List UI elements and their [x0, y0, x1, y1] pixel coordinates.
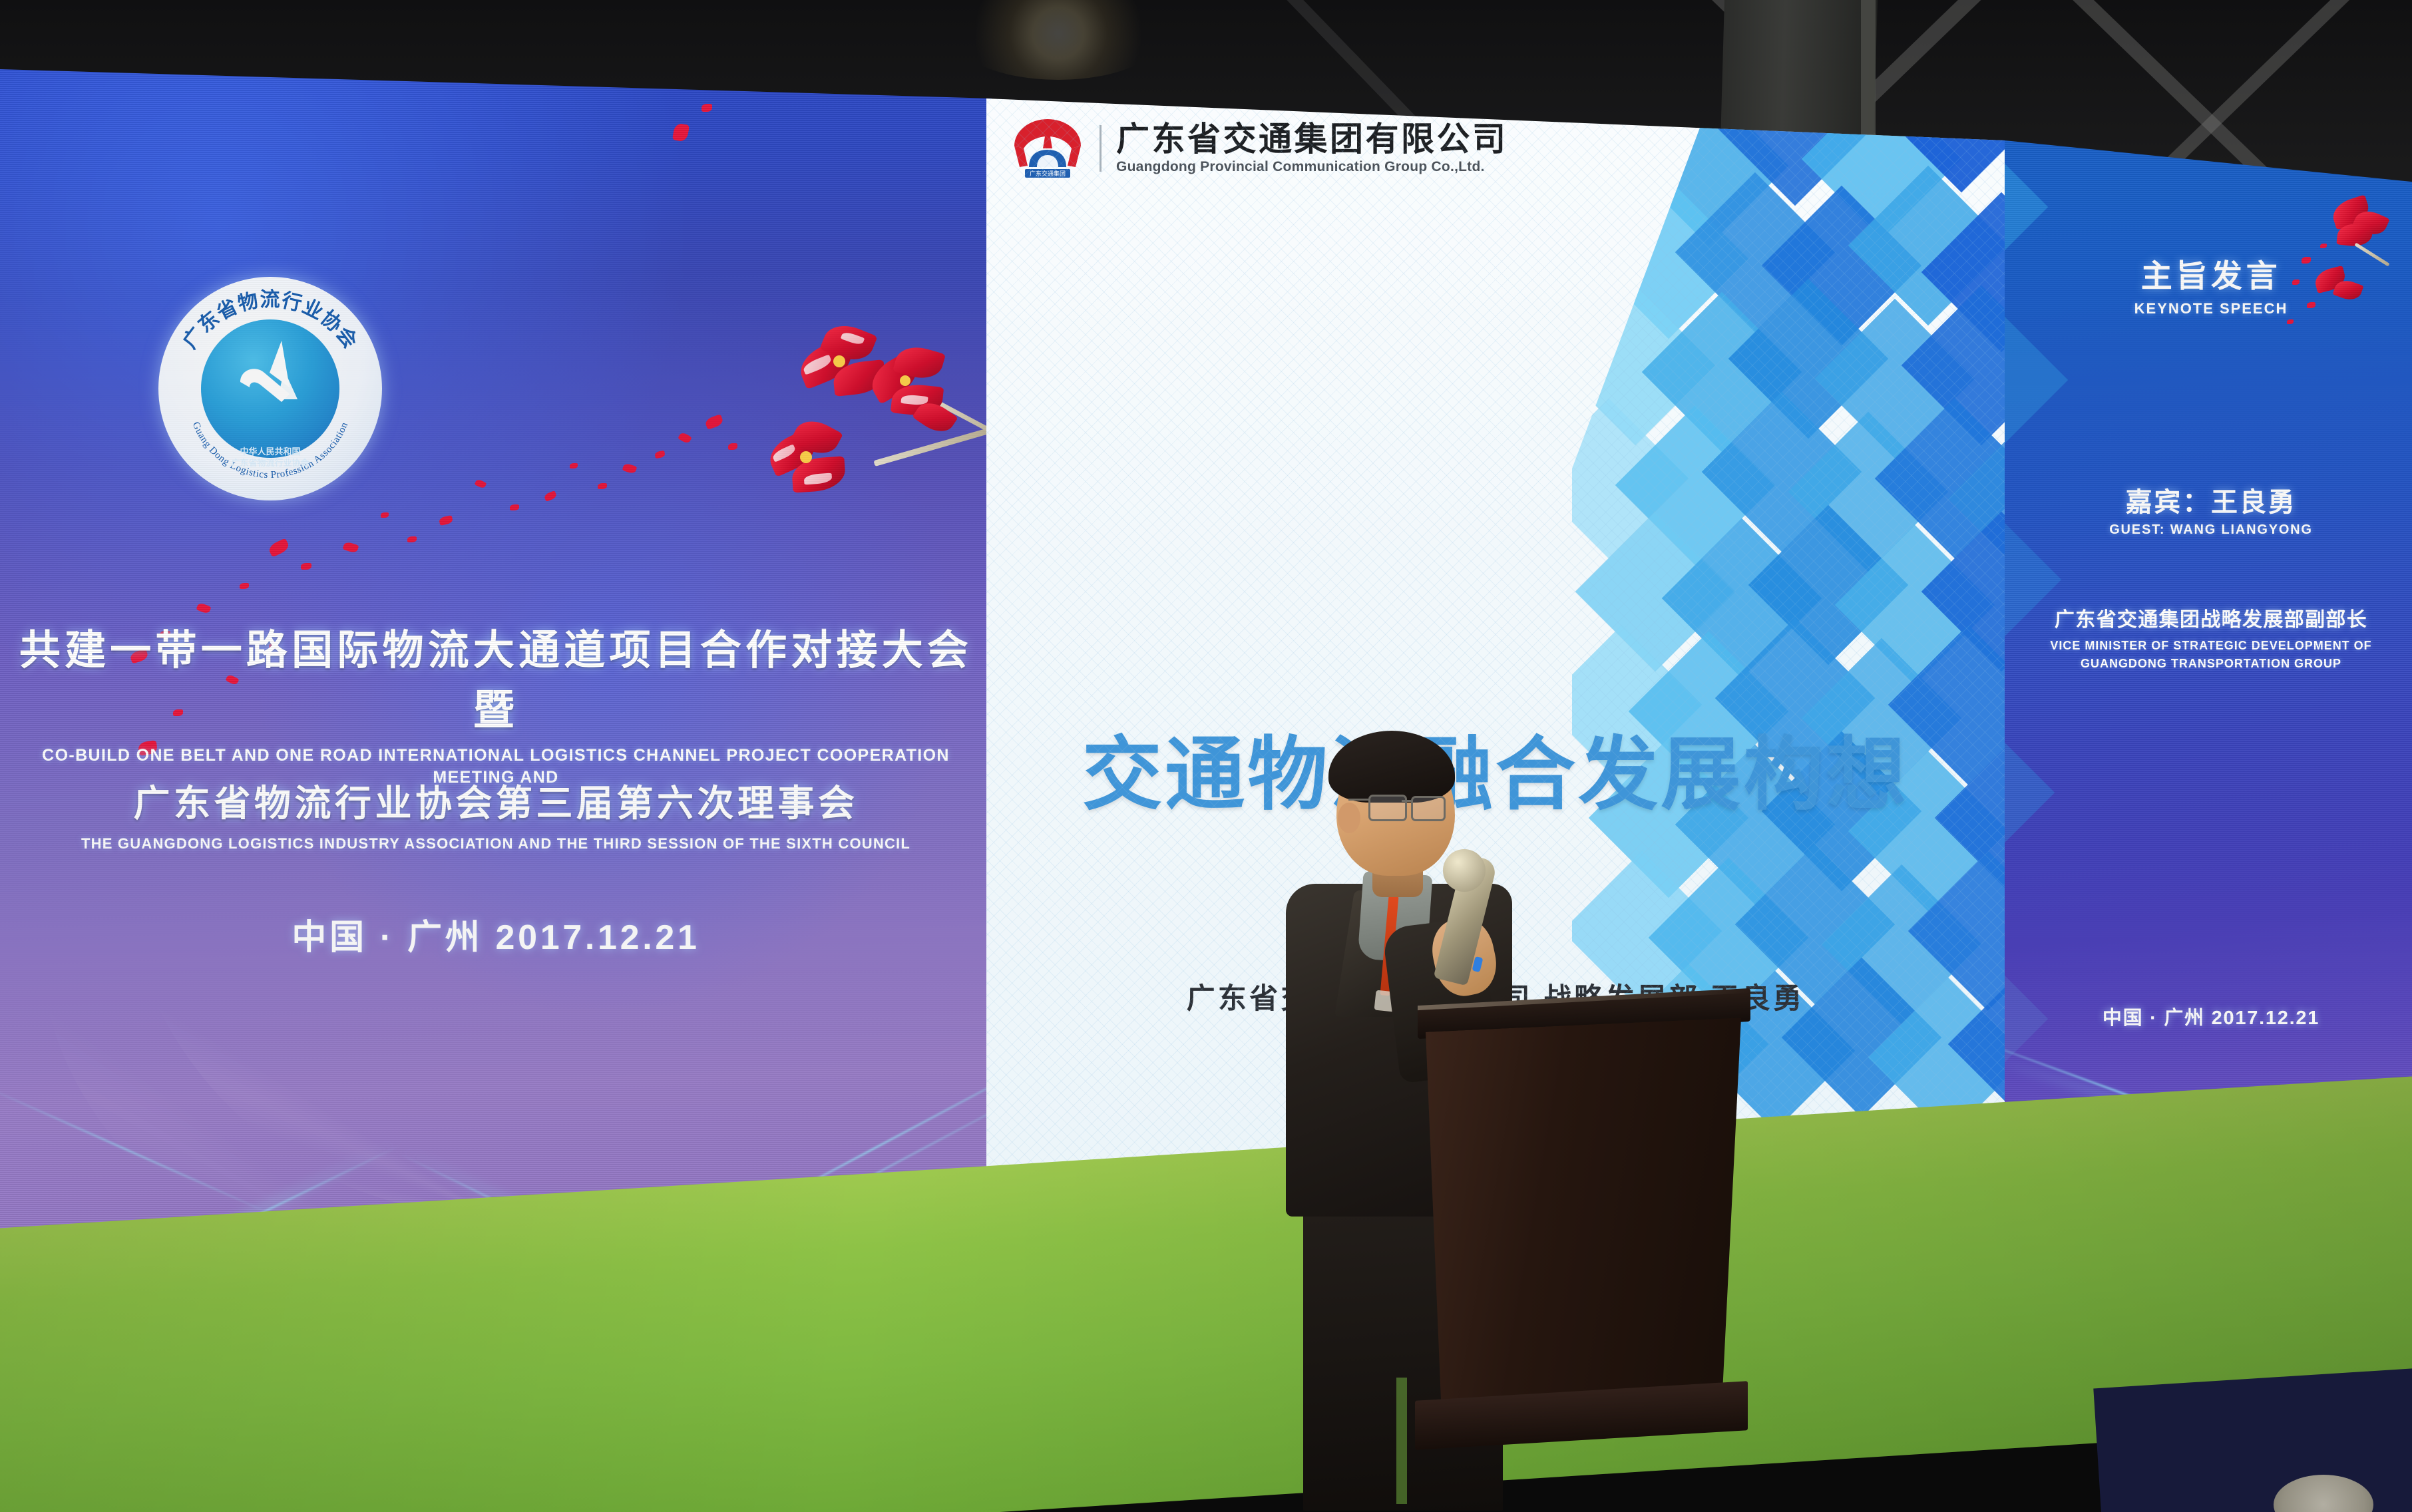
guest-role-en-line1: VICE MINISTER OF STRATEGIC DEVELOPMENT O…: [2005, 637, 2412, 655]
petal-speck: [728, 443, 737, 450]
right-panel-date-block: 中国 · 广州 2017.12.21: [2005, 1002, 2412, 1030]
banner-date: 中国 · 广州 2017.12.21: [0, 909, 992, 959]
speaker-eyeglasses-right-lens: [1411, 796, 1446, 821]
speaker-eyeglasses-left-lens: [1368, 795, 1407, 821]
guest-role-en-line2: GUANGDONG TRANSPORTATION GROUP: [2005, 655, 2412, 673]
petal-speck: [598, 483, 607, 489]
petal-speck: [240, 583, 249, 589]
seal-sub-line2: 广东省物流行业协会: [231, 458, 309, 469]
petal-speck: [381, 512, 389, 518]
banner-main-title-block: 共建一带一路国际物流大通道项目合作对接大会暨 CO-BUILD ONE BELT…: [0, 616, 992, 789]
slide-header-divider: [1100, 125, 1102, 172]
seal-arrow-mark-icon: [220, 335, 320, 415]
petal-speck: [510, 504, 519, 510]
slide-header-text: 广东省交通集团有限公司 Guangdong Provincial Communi…: [1116, 122, 1508, 175]
guest-name-cn: 嘉宾：王良勇: [2005, 480, 2412, 519]
kapok-flower-cluster: [772, 317, 992, 536]
kapok-bloom-3: [765, 417, 865, 516]
speaker-ear: [1338, 803, 1360, 833]
seal-sub-line1: 中华人民共和国: [231, 447, 309, 457]
speaker-hair: [1328, 731, 1455, 803]
conference-stage-photo: 广东省物流行业协会 Guang Dong Logistics Professio…: [0, 0, 2412, 1512]
slide-org-cn: 广东省交通集团有限公司: [1116, 122, 1508, 156]
banner-date-block: 中国 · 广州 2017.12.21: [0, 909, 992, 959]
banner-subtitle-en: THE GUANGDONG LOGISTICS INDUSTRY ASSOCIA…: [0, 835, 992, 852]
guest-role-block: 广东省交通集团战略发展部副部长 VICE MINISTER OF STRATEG…: [2005, 603, 2412, 673]
slide-header: 广东交通集团 广东省交通集团有限公司 Guangdong Provincial …: [986, 98, 2005, 198]
petal-speck: [407, 536, 417, 542]
guest-name-block: 嘉宾：王良勇 GUEST: WANG LIANGYONG: [2005, 480, 2412, 538]
speaker-eyeglasses-temple: [1348, 799, 1370, 801]
speaker-eyeglasses-bridge: [1402, 800, 1412, 802]
petal-speck: [301, 563, 311, 570]
keynote-section-en: KEYNOTE SPEECH: [2005, 300, 2412, 317]
speaker-leg-gap: [1396, 1378, 1407, 1504]
banner-subtitle-block: 广东省物流行业协会第三届第六次理事会 THE GUANGDONG LOGISTI…: [0, 773, 992, 852]
podium-body: [1426, 1018, 1741, 1412]
right-panel-date: 中国 · 广州 2017.12.21: [2005, 1002, 2412, 1030]
guest-name-en: GUEST: WANG LIANGYONG: [2005, 522, 2412, 538]
banner-subtitle-cn: 广东省物流行业协会第三届第六次理事会: [0, 773, 992, 827]
guest-role-cn: 广东省交通集团战略发展部副部长: [2005, 603, 2412, 632]
seal-sub-text: 中华人民共和国 广东省物流行业协会: [231, 447, 309, 469]
logistics-association-seal: 广东省物流行业协会 Guang Dong Logistics Professio…: [158, 277, 382, 500]
keynote-section-block: 主旨发言 KEYNOTE SPEECH: [2005, 250, 2412, 317]
guangdong-communication-group-logo-icon: 广东交通集团: [1010, 116, 1085, 180]
slide-org-en: Guangdong Provincial Communication Group…: [1116, 159, 1508, 175]
microphone-head-icon: [1443, 849, 1486, 892]
banner-title-cn: 共建一带一路国际物流大通道项目合作对接大会暨: [0, 616, 992, 736]
petal-speck: [570, 463, 578, 469]
keynote-section-cn: 主旨发言: [2005, 250, 2412, 296]
speaker-podium: [1418, 997, 1764, 1463]
petal-speck: [702, 104, 712, 112]
svg-text:广东交通集团: 广东交通集团: [1030, 170, 1066, 178]
event-banner-left: 广东省物流行业协会 Guang Dong Logistics Professio…: [0, 57, 992, 1362]
